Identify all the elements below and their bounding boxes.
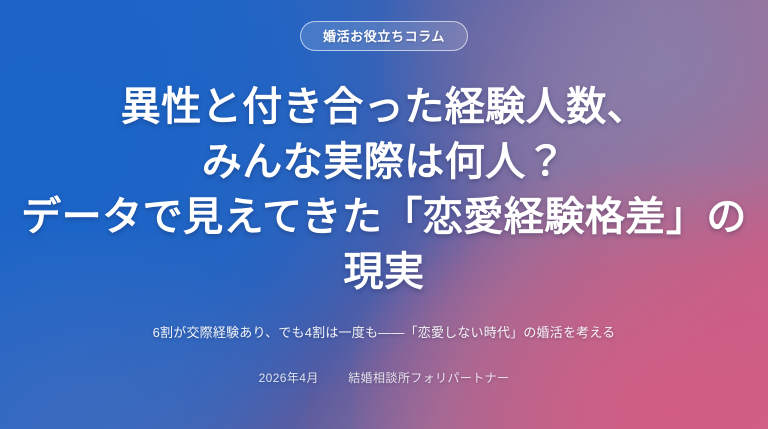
hero-content: 婚活お役立ちコラム 異性と付き合った経験人数、 みんな実際は何人？ データで見え…: [0, 0, 768, 429]
category-badge[interactable]: 婚活お役立ちコラム: [300, 21, 468, 51]
publication-date: 2026年4月: [259, 371, 319, 385]
hero-banner: 婚活お役立ちコラム 異性と付き合った経験人数、 みんな実際は何人？ データで見え…: [0, 0, 768, 429]
publication-meta: 2026年4月 結婚相談所フォリパートナー: [259, 369, 510, 387]
publisher-name: 結婚相談所フォリパートナー: [348, 371, 509, 385]
page-title-line-2: みんな実際は何人？: [16, 134, 752, 189]
page-title-line-4: 現実: [16, 244, 752, 299]
page-title: 異性と付き合った経験人数、 みんな実際は何人？ データで見えてきた「恋愛経験格差…: [0, 79, 768, 299]
page-subtitle: 6割が交際経験あり、でも4割は一度も——「恋愛しない時代」の婚活を考える: [153, 323, 616, 343]
page-title-line-3: データで見えてきた「恋愛経験格差」の: [16, 189, 752, 244]
page-title-line-1: 異性と付き合った経験人数、: [16, 79, 752, 134]
